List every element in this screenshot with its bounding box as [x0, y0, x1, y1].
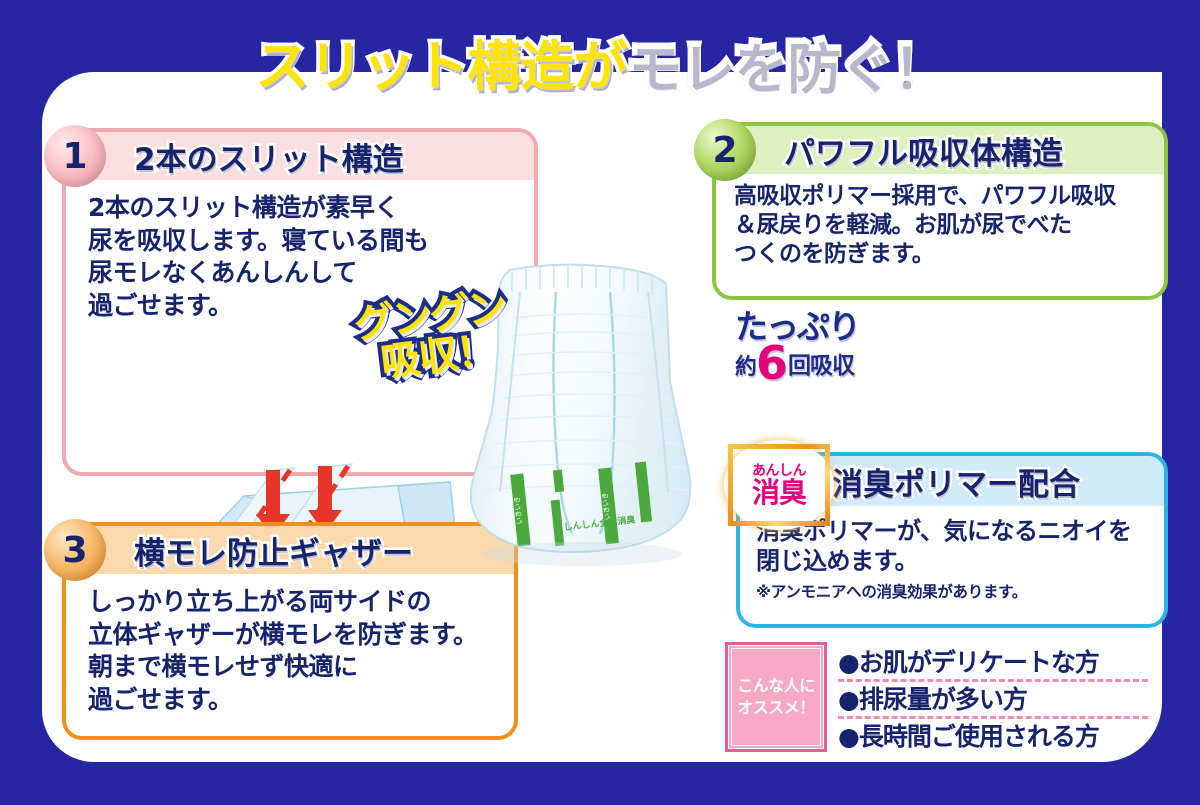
deodorant-seal-badge: あんしん 消臭 — [728, 444, 830, 526]
recommendation-badge: こんな人に オススメ！ — [728, 645, 824, 749]
deodorant-header: あんしん 消臭 消臭ポリマー配合 — [740, 456, 1164, 506]
feature-2-line-2: ＆尿戻りを軽減。お肌が尿でべた — [734, 211, 1148, 240]
feature-3-line-3: 朝まで横モレせず快適に — [88, 651, 498, 684]
feature-2-heading: パワフル吸収体構造 — [784, 128, 1063, 173]
feature-2-line-3: つくのを防ぎます。 — [734, 240, 1148, 269]
capacity-suffix: 回吸収 — [788, 346, 854, 383]
recommendation-strip: こんな人に オススメ！ ●お肌がデリケートな方 ●排尿量が多い方 ●長時間ご使用… — [728, 645, 1148, 757]
feature-1-number-badge: 1 — [44, 125, 106, 187]
feature-3-heading: 横モレ防止ギャザー — [134, 528, 413, 573]
title-part-pink: モレを防ぐ！ — [627, 22, 945, 101]
page-title: スリット構造がモレを防ぐ！ — [0, 22, 1200, 92]
capacity-value: 6 — [756, 344, 788, 383]
feature-card-2: 2 パワフル吸収体構造 高吸収ポリマー採用で、パワフル吸収 ＆尿戻りを軽減。お肌… — [712, 122, 1168, 300]
feature-2-number-badge: 2 — [694, 119, 756, 181]
feature-3-line-2: 立体ギャザーが横モレを防ぎます。 — [88, 619, 498, 652]
feature-2-line-1: 高吸収ポリマー採用で、パワフル吸収 — [734, 182, 1148, 211]
infographic-canvas: スリット構造がモレを防ぐ！ 1 2本のスリット構造 2本のスリット構造が素早く … — [0, 0, 1200, 805]
deodorant-line-1: 消臭ポリマーが、気になるニオイを — [756, 516, 1154, 546]
recommendation-badge-line-2: オススメ！ — [737, 697, 815, 719]
feature-1-line-1: 2本のスリット構造が素早く — [88, 192, 518, 225]
capacity-callout: たっぷり 約 6 回吸収 — [735, 300, 915, 392]
deodorant-badge-main: 消臭 — [752, 479, 806, 507]
feature-3-number-badge: 3 — [44, 519, 106, 581]
recommendation-badge-line-1: こんな人に — [737, 675, 815, 697]
recommendation-item-2: ●排尿量が多い方 — [838, 682, 1148, 716]
absorb-callout: グングン 吸収！ — [352, 287, 513, 387]
recommendation-list: ●お肌がデリケートな方 ●排尿量が多い方 ●長時間ご使用される方 — [824, 645, 1148, 757]
feature-1-line-2: 尿を吸収します。寝ている間も — [88, 225, 518, 258]
feature-2-body: 高吸収ポリマー採用で、パワフル吸収 ＆尿戻りを軽減。お肌が尿でべた つくのを防ぎ… — [716, 174, 1164, 279]
feature-2-header: 2 パワフル吸収体構造 — [716, 126, 1164, 174]
feature-3-line-1: しっかり立ち上がる両サイドの — [88, 586, 498, 619]
recommendation-item-3: ●長時間ご使用される方 — [838, 719, 1148, 753]
feature-3-header: 3 横モレ防止ギャザー — [66, 526, 514, 574]
deodorant-card: あんしん 消臭 消臭ポリマー配合 消臭ポリマーが、気になるニオイを 閉じ込めます… — [736, 452, 1168, 628]
feature-card-3: 3 横モレ防止ギャザー しっかり立ち上がる両サイドの 立体ギャザーが横モレを防ぎ… — [62, 522, 518, 740]
title-part-yellow: スリット構造が — [256, 22, 627, 101]
deodorant-footnote: ※アンモニアへの消臭効果があります。 — [740, 578, 1164, 602]
feature-1-header: 1 2本のスリット構造 — [66, 132, 534, 180]
feature-3-body: しっかり立ち上がる両サイドの 立体ギャザーが横モレを防ぎます。 朝まで横モレせず… — [66, 574, 514, 726]
deodorant-heading: 消臭ポリマー配合 — [832, 459, 1080, 504]
recommendation-item-1: ●お肌がデリケートな方 — [838, 645, 1148, 679]
capacity-prefix: 約 — [735, 349, 756, 383]
feature-3-line-4: 過ごせます。 — [88, 684, 498, 717]
feature-1-heading: 2本のスリット構造 — [134, 134, 404, 179]
deodorant-line-2: 閉じ込めます。 — [756, 546, 1154, 576]
